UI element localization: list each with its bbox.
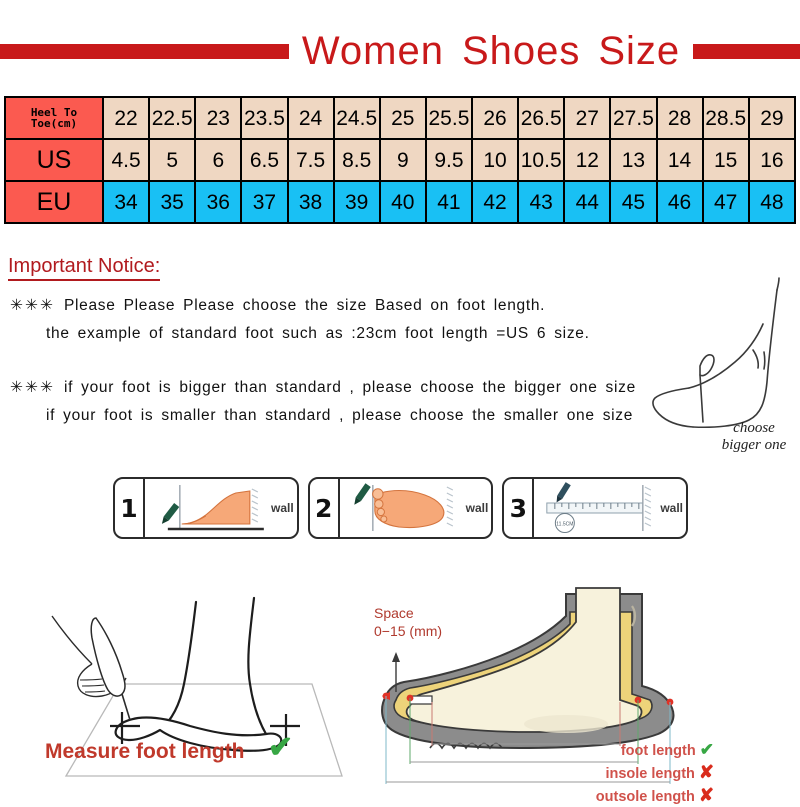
cell-eu: 44 bbox=[564, 181, 610, 223]
row-label-eu: EU bbox=[5, 181, 103, 223]
step-number: 3 bbox=[504, 479, 534, 537]
measuring-steps: 1 wall 2 bbox=[113, 477, 688, 539]
cell-us: 9 bbox=[380, 139, 426, 181]
cell-us: 6.5 bbox=[241, 139, 287, 181]
check-mark-icon: ✔ bbox=[700, 740, 714, 759]
foot-length-label-row: foot length ✔ bbox=[484, 739, 714, 761]
outsole-length-label: outsole length bbox=[596, 789, 695, 805]
ruler-badge-value: 11.5CM bbox=[557, 522, 574, 528]
insole-length-label-row: insole length ✘ bbox=[484, 761, 714, 784]
wall-label: wall bbox=[466, 501, 489, 515]
asterisk-marker: ✳✳✳ bbox=[10, 297, 55, 314]
notice-text: if your foot is smaller than standard , … bbox=[46, 407, 633, 424]
cell-us: 4.5 bbox=[103, 139, 149, 181]
notice-line-1: ✳✳✳Please Please Please choose the size … bbox=[10, 296, 545, 315]
measure-foot-length-caption: Measure foot length bbox=[45, 740, 245, 764]
cell-us: 15 bbox=[703, 139, 749, 181]
cell-us: 16 bbox=[749, 139, 795, 181]
space-label-line-1: Space bbox=[374, 605, 442, 623]
cell-us: 12 bbox=[564, 139, 610, 181]
cell-eu: 35 bbox=[149, 181, 195, 223]
step-panel-3: 3 bbox=[502, 477, 688, 539]
page-title: WomenShoesSize bbox=[293, 29, 689, 74]
cell-cm: 26 bbox=[472, 97, 518, 139]
space-gap-label: Space 0−15 (mm) bbox=[374, 605, 442, 640]
step-panel-1: 1 wall bbox=[113, 477, 299, 539]
notice-text: Please Please Please choose the size Bas… bbox=[64, 297, 545, 314]
cell-us: 10 bbox=[472, 139, 518, 181]
shoe-size-table: Heel To Toe(cm) 22 22.5 23 23.5 24 24.5 … bbox=[4, 96, 796, 224]
table-row: EU 34 35 36 37 38 39 40 41 42 43 44 45 4… bbox=[5, 181, 795, 223]
cell-cm: 22.5 bbox=[149, 97, 195, 139]
notice-line-3: ✳✳✳if your foot is bigger than standard … bbox=[10, 378, 636, 397]
step-illustration-ruler: 11.5CM wall bbox=[534, 479, 686, 537]
title-word-women: Women bbox=[302, 29, 444, 73]
cell-us: 8.5 bbox=[334, 139, 380, 181]
cell-cm: 28.5 bbox=[703, 97, 749, 139]
title-word-size: Size bbox=[598, 29, 680, 73]
notice-line-4: if your foot is smaller than standard , … bbox=[46, 407, 633, 425]
cell-cm: 25 bbox=[380, 97, 426, 139]
cell-eu: 45 bbox=[610, 181, 656, 223]
cell-eu: 34 bbox=[103, 181, 149, 223]
cell-eu: 38 bbox=[288, 181, 334, 223]
cell-cm: 23 bbox=[195, 97, 241, 139]
space-label-line-2: 0−15 (mm) bbox=[374, 623, 442, 641]
cell-cm: 27.5 bbox=[610, 97, 656, 139]
row-label-heel-to-toe: Heel To Toe(cm) bbox=[5, 97, 103, 139]
outsole-length-label-row: outsole length ✘ bbox=[484, 784, 714, 807]
cell-us: 6 bbox=[195, 139, 241, 181]
cell-eu: 37 bbox=[241, 181, 287, 223]
cell-cm: 24.5 bbox=[334, 97, 380, 139]
caption-line-2: bigger one bbox=[694, 437, 800, 454]
cell-eu: 47 bbox=[703, 181, 749, 223]
cell-eu: 42 bbox=[472, 181, 518, 223]
cell-cm: 25.5 bbox=[426, 97, 472, 139]
cell-eu: 46 bbox=[657, 181, 703, 223]
table-row: US 4.5 5 6 6.5 7.5 8.5 9 9.5 10 10.5 12 … bbox=[5, 139, 795, 181]
cell-cm: 22 bbox=[103, 97, 149, 139]
step-number: 1 bbox=[115, 479, 145, 537]
row-label-us: US bbox=[5, 139, 103, 181]
cell-cm: 24 bbox=[288, 97, 334, 139]
cell-us: 5 bbox=[149, 139, 195, 181]
cell-cm: 23.5 bbox=[241, 97, 287, 139]
wall-label: wall bbox=[271, 501, 294, 515]
cell-cm: 29 bbox=[749, 97, 795, 139]
cell-eu: 36 bbox=[195, 181, 241, 223]
cross-mark-icon: ✘ bbox=[699, 785, 714, 805]
cell-us: 7.5 bbox=[288, 139, 334, 181]
choose-bigger-caption: choose bigger one bbox=[694, 420, 800, 454]
cell-eu: 43 bbox=[518, 181, 564, 223]
cell-us: 13 bbox=[610, 139, 656, 181]
step-number: 2 bbox=[310, 479, 340, 537]
notice-text: if your foot is bigger than standard , p… bbox=[64, 379, 636, 396]
cell-us: 14 bbox=[657, 139, 703, 181]
cell-us: 9.5 bbox=[426, 139, 472, 181]
foot-length-label: foot length bbox=[621, 743, 696, 759]
notice-text: the example of standard foot such as :23… bbox=[46, 325, 590, 342]
step-illustration-foot-side: wall bbox=[145, 479, 297, 537]
cell-eu: 40 bbox=[380, 181, 426, 223]
insole-length-label: insole length bbox=[605, 766, 694, 782]
important-notice-heading: Important Notice: bbox=[8, 255, 160, 281]
step-panel-2: 2 wall bbox=[308, 477, 494, 539]
wall-label: wall bbox=[660, 501, 683, 515]
check-mark-icon: ✔ bbox=[268, 733, 293, 763]
cross-mark-icon: ✘ bbox=[699, 762, 714, 782]
title-word-shoes: Shoes bbox=[462, 29, 580, 73]
step-illustration-foot-top: wall bbox=[340, 479, 492, 537]
cell-eu: 39 bbox=[334, 181, 380, 223]
table-row: Heel To Toe(cm) 22 22.5 23 23.5 24 24.5 … bbox=[5, 97, 795, 139]
title-rule-right bbox=[693, 44, 800, 59]
cell-cm: 28 bbox=[657, 97, 703, 139]
cell-eu: 41 bbox=[426, 181, 472, 223]
length-labels: foot length ✔ insole length ✘ outsole le… bbox=[484, 739, 714, 807]
cell-eu: 48 bbox=[749, 181, 795, 223]
asterisk-marker: ✳✳✳ bbox=[10, 379, 55, 396]
cell-us: 10.5 bbox=[518, 139, 564, 181]
title-rule-left bbox=[0, 44, 289, 59]
caption-line-1: choose bbox=[694, 420, 800, 437]
cell-cm: 26.5 bbox=[518, 97, 564, 139]
notice-line-2: the example of standard foot such as :23… bbox=[46, 325, 590, 343]
page-title-row: WomenShoesSize bbox=[0, 20, 800, 82]
cell-cm: 27 bbox=[564, 97, 610, 139]
